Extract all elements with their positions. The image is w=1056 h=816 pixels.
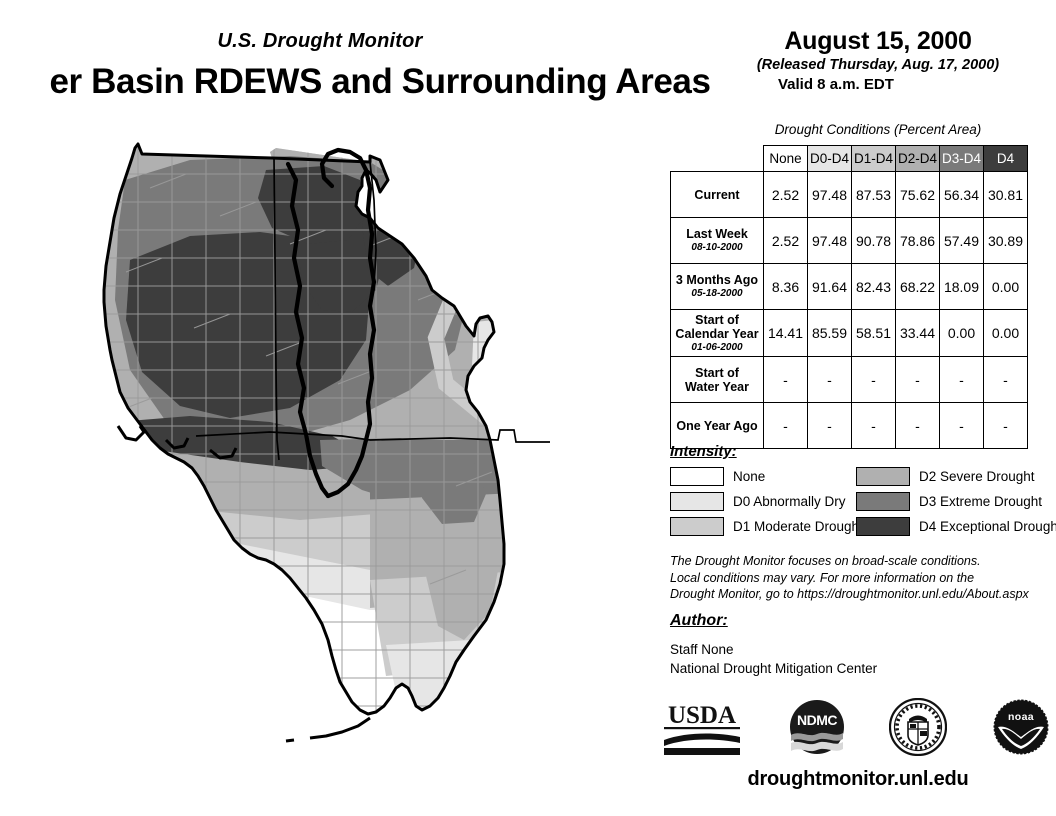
table-row: 3 Months Ago 05-18-2000 8.36 91.64 82.43…	[671, 264, 1028, 310]
svg-text:noaa: noaa	[1008, 711, 1034, 723]
disclaimer-line-2: Local conditions may vary. For more info…	[670, 570, 1056, 587]
row-label-line2: Calendar Year	[675, 327, 758, 341]
table-body: Current 2.52 97.48 87.53 75.62 56.34 30.…	[671, 172, 1028, 449]
drought-conditions-table: None D0-D4 D1-D4 D2-D4 D3-D4 D4 Current …	[670, 145, 1028, 449]
cell-3months-d1d4: 82.43	[852, 264, 896, 310]
cell-3months-d2d4: 68.22	[896, 264, 940, 310]
svg-text:USDA: USDA	[668, 702, 736, 729]
legend-item-d1: D1 Moderate Drought	[670, 516, 856, 536]
column-header-d4: D4	[984, 146, 1028, 172]
row-label-line1: Start of	[695, 366, 739, 380]
author-heading: Author:	[670, 612, 728, 630]
header-band: U.S. Drought Monitor er Basin RDEWS and …	[0, 0, 1056, 130]
legend-swatch-d2-icon	[856, 467, 910, 486]
drought-map[interactable]	[70, 140, 650, 810]
disclaimer-text: The Drought Monitor focuses on broad-sca…	[670, 553, 1056, 603]
legend-label-d1: D1 Moderate Drought	[733, 519, 863, 534]
table-row: Current 2.52 97.48 87.53 75.62 56.34 30.…	[671, 172, 1028, 218]
site-url: droughtmonitor.unl.edu	[660, 768, 1056, 791]
cell-wateryear-d2d4: -	[896, 357, 940, 403]
table-header-row: None D0-D4 D1-D4 D2-D4 D3-D4 D4	[671, 146, 1028, 172]
cell-3months-d3d4: 18.09	[940, 264, 984, 310]
drought-monitor-supertitle: U.S. Drought Monitor	[0, 30, 640, 53]
row-label-start-water-year: Start of Water Year	[671, 357, 764, 403]
cell-calyear-d0d4: 85.59	[808, 310, 852, 357]
table-row: Start of Calendar Year 01-06-2000 14.41 …	[671, 310, 1028, 357]
row-label-start-calendar-year: Start of Calendar Year 01-06-2000	[671, 310, 764, 357]
cell-3months-d0d4: 91.64	[808, 264, 852, 310]
valid-time: Valid 8 a.m. EDT	[700, 76, 1056, 93]
cell-oneyear-d0d4: -	[808, 403, 852, 449]
cell-current-d1d4: 87.53	[852, 172, 896, 218]
cell-wateryear-none: -	[764, 357, 808, 403]
row-label-text: Current	[694, 188, 739, 202]
table-header: None D0-D4 D1-D4 D2-D4 D3-D4 D4	[671, 146, 1028, 172]
cell-lastweek-d0d4: 97.48	[808, 218, 852, 264]
cell-calyear-d4: 0.00	[984, 310, 1028, 357]
legend-label-d0: D0 Abnormally Dry	[733, 494, 846, 509]
column-header-d3-d4: D3-D4	[940, 146, 984, 172]
row-label-last-week: Last Week 08-10-2000	[671, 218, 764, 264]
cell-calyear-d1d4: 58.51	[852, 310, 896, 357]
legend-item-d3: D3 Extreme Drought	[856, 491, 1042, 511]
row-label-date: 05-18-2000	[673, 288, 761, 299]
cell-current-none: 2.52	[764, 172, 808, 218]
author-name: Staff None	[670, 640, 877, 659]
table-caption: Drought Conditions (Percent Area)	[700, 122, 1056, 137]
cell-current-d3d4: 56.34	[940, 172, 984, 218]
cell-oneyear-d4: -	[984, 403, 1028, 449]
cell-lastweek-d3d4: 57.49	[940, 218, 984, 264]
legend-heading: Intensity:	[670, 443, 1050, 460]
cell-wateryear-d3d4: -	[940, 357, 984, 403]
ndmc-logo: NDMC	[789, 699, 845, 755]
logo-row: USDA NDMC noaa	[660, 694, 1050, 760]
legend-swatch-d0-icon	[670, 492, 724, 511]
table-row: Last Week 08-10-2000 2.52 97.48 90.78 78…	[671, 218, 1028, 264]
row-label-date: 08-10-2000	[673, 242, 761, 253]
legend-label-d3: D3 Extreme Drought	[919, 494, 1042, 509]
cell-wateryear-d0d4: -	[808, 357, 852, 403]
cell-3months-none: 8.36	[764, 264, 808, 310]
disclaimer-line-3: Drought Monitor, go to https://droughtmo…	[670, 586, 1056, 603]
usda-logo: USDA	[660, 699, 744, 755]
row-label-text: Last Week	[686, 227, 748, 241]
cell-current-d4: 30.81	[984, 172, 1028, 218]
drought-map-svg[interactable]	[70, 140, 650, 810]
column-header-d1-d4: D1-D4	[852, 146, 896, 172]
cell-calyear-none: 14.41	[764, 310, 808, 357]
intensity-legend: Intensity: None D2 Severe Drought D0 Abn…	[670, 443, 1050, 536]
legend-item-d0: D0 Abnormally Dry	[670, 491, 856, 511]
cell-oneyear-d3d4: -	[940, 403, 984, 449]
cell-lastweek-d2d4: 78.86	[896, 218, 940, 264]
cell-wateryear-d4: -	[984, 357, 1028, 403]
table-row: One Year Ago - - - - - -	[671, 403, 1028, 449]
cell-lastweek-d4: 30.89	[984, 218, 1028, 264]
release-date: (Released Thursday, Aug. 17, 2000)	[700, 57, 1056, 73]
svg-text:NDMC: NDMC	[797, 712, 837, 728]
legend-label-d4: D4 Exceptional Drought	[919, 519, 1056, 534]
row-label-line2: Water Year	[685, 380, 749, 394]
cell-wateryear-d1d4: -	[852, 357, 896, 403]
legend-swatch-d4-icon	[856, 517, 910, 536]
page-title: er Basin RDEWS and Surrounding Areas	[0, 62, 820, 102]
author-organization: National Drought Mitigation Center	[670, 659, 877, 678]
cell-lastweek-d1d4: 90.78	[852, 218, 896, 264]
legend-item-d2: D2 Severe Drought	[856, 466, 1042, 486]
legend-label-d2: D2 Severe Drought	[919, 469, 1035, 484]
date-block: August 15, 2000 (Released Thursday, Aug.…	[700, 28, 1056, 93]
row-label-date: 01-06-2000	[673, 342, 761, 353]
cell-current-d2d4: 75.62	[896, 172, 940, 218]
cell-oneyear-d2d4: -	[896, 403, 940, 449]
column-header-none: None	[764, 146, 808, 172]
row-label-text: 3 Months Ago	[676, 273, 758, 287]
valid-date: August 15, 2000	[700, 28, 1056, 55]
cell-oneyear-none: -	[764, 403, 808, 449]
legend-item-none: None	[670, 466, 856, 486]
cell-current-d0d4: 97.48	[808, 172, 852, 218]
legend-swatch-none-icon	[670, 467, 724, 486]
row-label-line1: Start of	[695, 313, 739, 327]
commerce-seal-icon	[889, 698, 947, 756]
cell-3months-d4: 0.00	[984, 264, 1028, 310]
cell-lastweek-none: 2.52	[764, 218, 808, 264]
legend-item-d4: D4 Exceptional Drought	[856, 516, 1042, 536]
cell-calyear-d2d4: 33.44	[896, 310, 940, 357]
cell-oneyear-d1d4: -	[852, 403, 896, 449]
legend-swatch-d3-icon	[856, 492, 910, 511]
table-row: Start of Water Year - - - - - -	[671, 357, 1028, 403]
disclaimer-line-1: The Drought Monitor focuses on broad-sca…	[670, 553, 1056, 570]
noaa-logo: noaa	[992, 698, 1050, 756]
column-header-d2-d4: D2-D4	[896, 146, 940, 172]
table-corner-cell	[671, 146, 764, 172]
row-label-one-year-ago: One Year Ago	[671, 403, 764, 449]
cell-calyear-d3d4: 0.00	[940, 310, 984, 357]
row-label-3-months-ago: 3 Months Ago 05-18-2000	[671, 264, 764, 310]
row-label-current: Current	[671, 172, 764, 218]
legend-swatch-d1-icon	[670, 517, 724, 536]
row-label-text: One Year Ago	[676, 419, 757, 433]
column-header-d0-d4: D0-D4	[808, 146, 852, 172]
author-block: Staff None National Drought Mitigation C…	[670, 640, 877, 678]
legend-label-none: None	[733, 469, 765, 484]
